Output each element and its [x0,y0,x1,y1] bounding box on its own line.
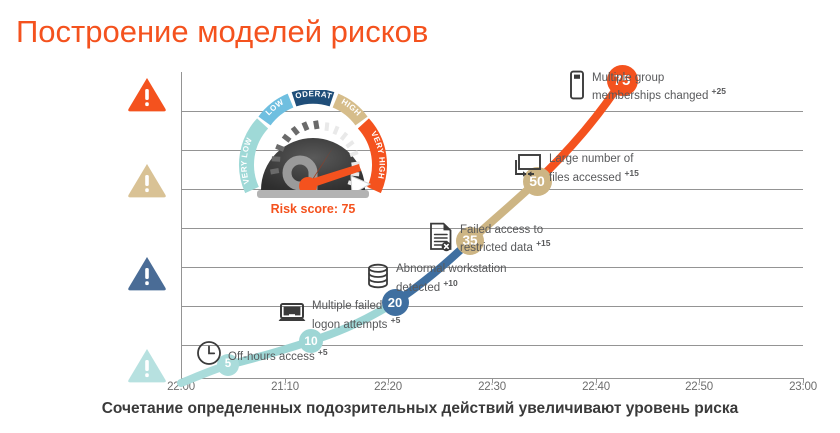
page-title: Построение моделей рисков [16,14,428,50]
x-axis-tick-label: 22:00 [167,381,195,393]
annotation-failed-restricted-data-label: Failed access torestricted data +15 [460,224,551,256]
annotation-large-file-access-label: Large number offiles accessed +15 [549,153,639,185]
annotation-group-membership: Multiple groupmemberships changed +25 [568,70,726,105]
annotation-abnormal-workstation: Abnormal workstationdetected +10 [366,263,507,295]
annotation-failed-logons: Multiple failedlogon attempts +5 [278,300,400,332]
x-axis-tick-label: 21:10 [271,381,299,393]
warning-triangle-high [127,162,167,198]
risk-score-label: Risk score: 75 [238,202,388,216]
warning-triangle-low [127,347,167,383]
annotation-abnormal-workstation-label: Abnormal workstationdetected +10 [396,263,507,295]
document-x-icon [428,222,454,257]
x-axis-tick-label: 23:00 [789,381,817,393]
laptop-icon [278,302,306,329]
annotation-off-hours-access: Off-hours access +5 [196,340,328,371]
warning-triangle-moderate [127,255,167,291]
annotation-off-hours-access-label: Off-hours access +5 [228,346,328,364]
gridline [181,306,803,307]
slide-canvas: Построение моделей рисков 22:0021:1022:2… [0,0,840,433]
x-axis-tick-label: 22:50 [685,381,713,393]
x-axis-tick-label: 22:40 [582,381,610,393]
annotation-group-membership-label: Multiple groupmemberships changed +25 [592,72,726,104]
x-axis-labels: 22:0021:1022:2022:3022:4022:5023:00 [181,381,803,397]
y-axis-line [181,72,182,378]
annotation-failed-logons-label: Multiple failedlogon attempts +5 [312,300,400,332]
gauge-base [257,190,369,198]
x-axis-tick-label: 22:30 [478,381,506,393]
database-icon [366,263,390,294]
clock-icon [196,340,222,371]
folder-arrow-icon [513,153,543,184]
annotation-failed-restricted-data: Failed access torestricted data +15 [428,222,551,257]
slide-caption: Сочетание определенных подозрительных де… [0,400,840,418]
usb-drive-icon [568,70,586,105]
annotation-large-file-access: Large number offiles accessed +15 [513,153,639,185]
x-axis-tick-label: 22:20 [374,381,402,393]
risk-score-gauge: VERY LOW LOW MODERATE HIGH VERY HIGH [238,90,388,202]
warning-triangle-very-high [127,76,167,112]
